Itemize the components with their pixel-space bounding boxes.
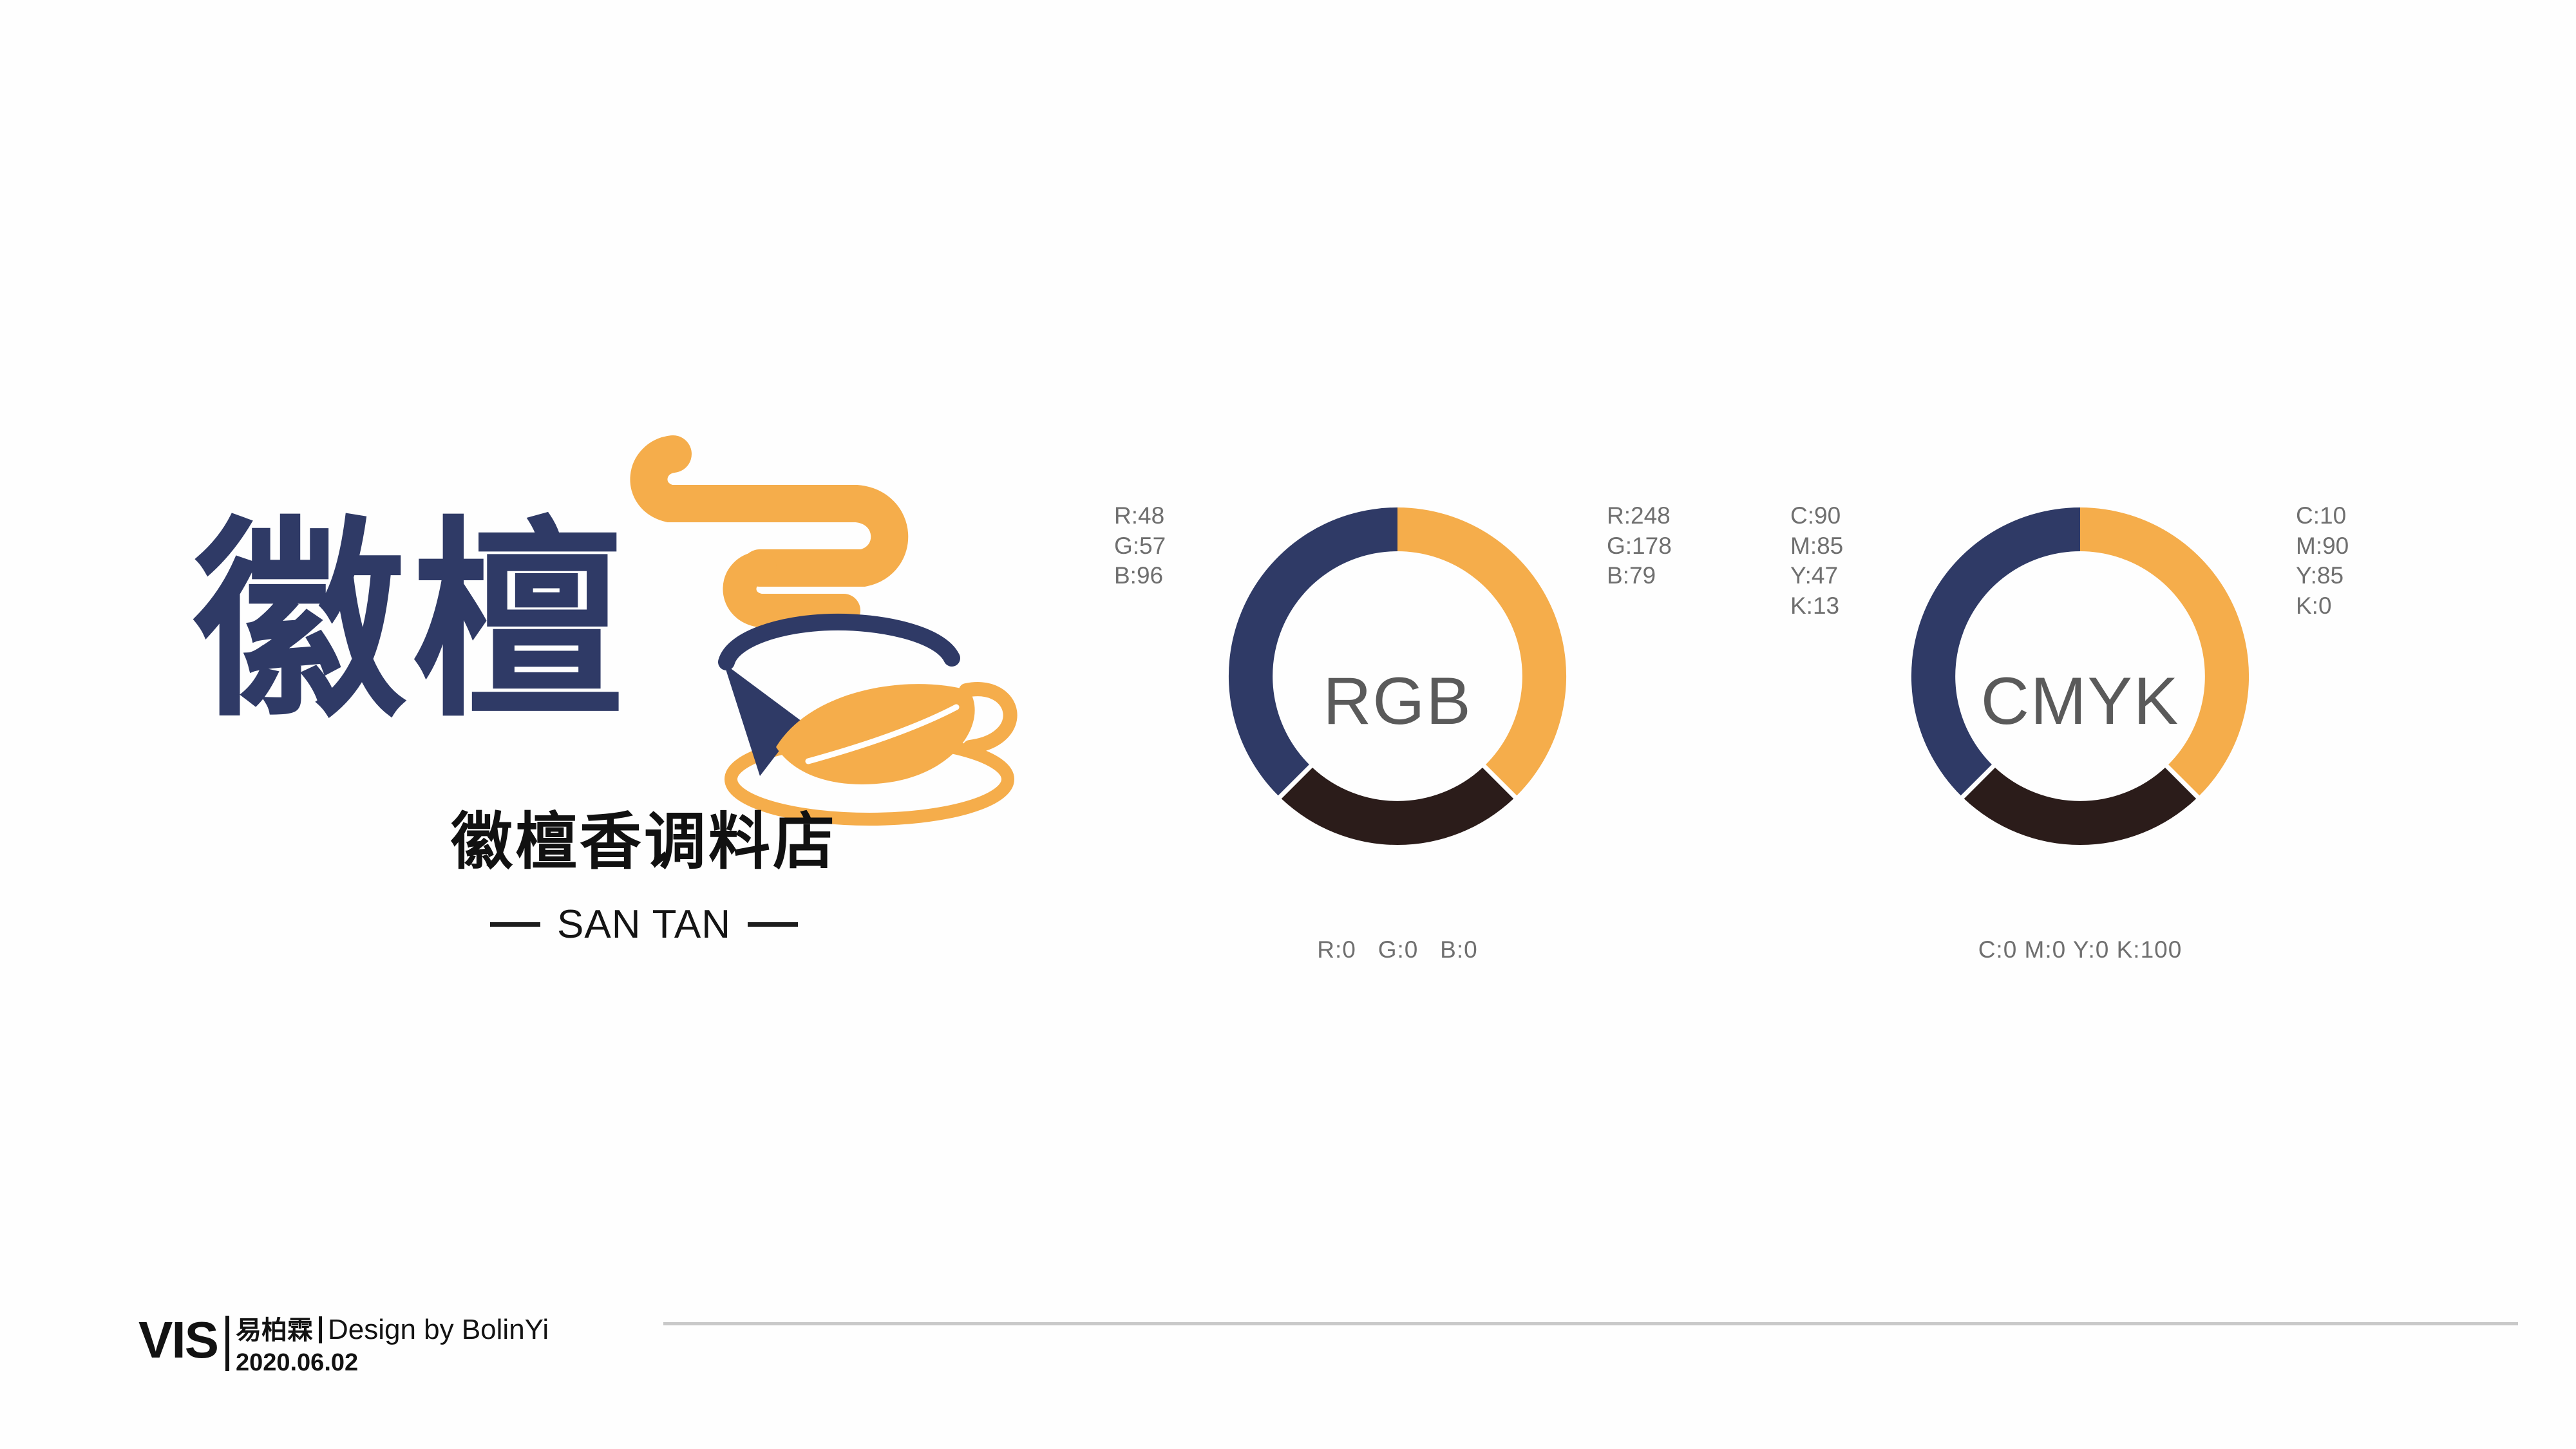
logo-wordmark-glyphs: 徽檀 (193, 503, 629, 741)
rgb-segment-black (1282, 768, 1513, 845)
rgb-segment-navy (1229, 507, 1397, 795)
cmyk-palette-chart: CMYK C:90 M:85 Y:47 K:13 C:10 M:90 Y:85 … (1777, 451, 2383, 979)
cmyk-swatch-label-orange: C:10 M:90 Y:85 K:0 (2296, 501, 2349, 621)
cmyk-center-label: CMYK (1981, 663, 2179, 740)
logo-subtitle-latin: SAN TAN (557, 902, 731, 947)
footer-date: 2020.06.02 (236, 1349, 549, 1377)
footer-author-chinese: 易柏霖 (236, 1318, 313, 1343)
leaf-icon (776, 684, 975, 784)
footer-divider-bar-2-icon (319, 1316, 322, 1343)
cmyk-segment-navy (1911, 507, 2080, 795)
footer-vis-label: VIS (138, 1316, 218, 1365)
rgb-swatch-label-navy: R:48 G:57 B:96 (1114, 501, 1166, 591)
rgb-swatch-label-orange: R:248 G:178 B:79 (1607, 501, 1672, 591)
rgb-center-label: RGB (1323, 663, 1472, 740)
footer: VIS 易柏霖 Design by BolinYi 2020.06.02 (0, 1304, 2576, 1449)
cmyk-segment-orange (2080, 507, 2249, 795)
rgb-palette-chart: RGB R:48 G:57 B:96 R:248 G:178 B:79 R:0 … (1095, 451, 1700, 979)
logo-subtitle-chinese: 徽檀香调料店 (193, 811, 1095, 873)
footer-divider-bar-1-icon (225, 1316, 229, 1371)
logo-block: 徽檀 徽檀香调料店 SAN TAN (193, 361, 1095, 1005)
steam-icon (649, 454, 889, 611)
footer-line-1: 易柏霖 Design by BolinYi (236, 1316, 549, 1344)
cmyk-swatch-label-navy: C:90 M:85 Y:47 K:13 (1790, 501, 1843, 621)
cup-rim-icon (726, 622, 952, 662)
footer-credit-block: VIS 易柏霖 Design by BolinYi 2020.06.02 (138, 1316, 549, 1377)
rgb-segment-orange (1397, 507, 1566, 795)
dash-left-icon (490, 922, 540, 927)
footer-design-credit: Design by BolinYi (328, 1316, 549, 1344)
cmyk-segment-black (1964, 768, 2196, 845)
cmyk-swatch-label-black: C:0 M:0 Y:0 K:100 (1777, 935, 2383, 965)
rgb-swatch-label-black: R:0 G:0 B:0 (1095, 935, 1700, 965)
dash-right-icon (748, 922, 798, 927)
footer-horizontal-rule (663, 1322, 2518, 1325)
logo-latin-row: SAN TAN (193, 902, 1095, 947)
footer-text-stack: 易柏霖 Design by BolinYi 2020.06.02 (236, 1316, 549, 1377)
logo-mark: 徽檀 (193, 361, 1095, 876)
